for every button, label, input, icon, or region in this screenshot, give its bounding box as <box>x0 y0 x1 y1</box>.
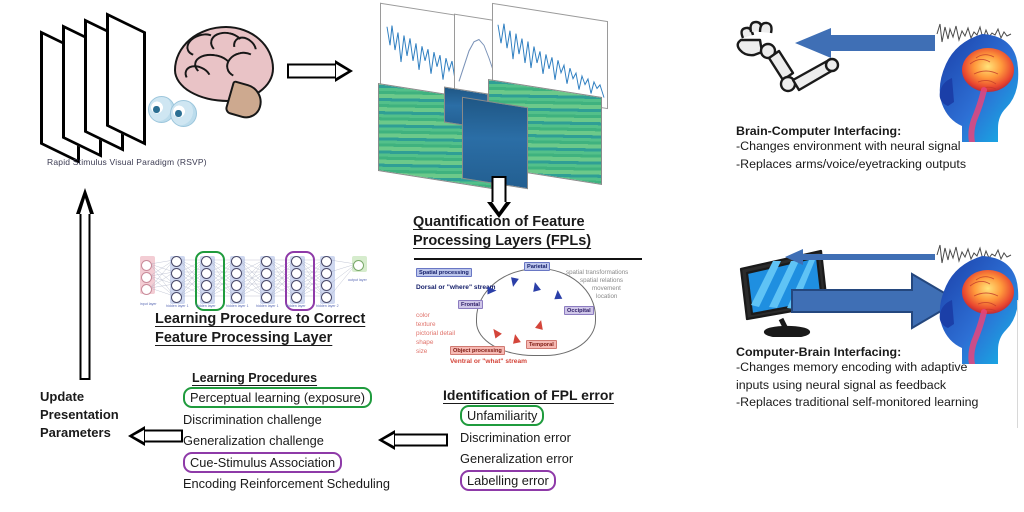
arrow-signals-to-quantification <box>486 176 512 218</box>
list-item[interactable]: Unfamiliarity <box>460 405 650 427</box>
arrow-feedback-to-rsvp <box>72 188 98 380</box>
quantification-heading-line: Quantification of Feature <box>413 213 633 232</box>
list-item-label: Labelling error <box>460 470 556 491</box>
bci-info-block: Brain-Computer Interfacing: -Changes env… <box>736 124 986 173</box>
cbi-title: Computer-Brain Interfacing: <box>736 345 986 359</box>
lobe-label-parietal: Parietal <box>524 262 550 271</box>
update-parameters-label: Update Presentation Parameters <box>40 388 135 442</box>
update-label-line: Update <box>40 388 135 406</box>
rsvp-plane <box>106 12 146 146</box>
nn-layer-label: hidden layer <box>196 304 216 308</box>
arrow-brain-to-signals <box>287 58 353 84</box>
lobe-label-occipital: Occipital <box>564 306 594 315</box>
list-item-label: Encoding Reinforcement Scheduling <box>183 476 390 491</box>
learning-procedures-subheading: Learning Procedures <box>192 370 317 387</box>
ventral-stream-label: Ventral or "what" stream <box>450 358 527 365</box>
dorsal-stream-label: Dorsal or "where" stream <box>416 284 496 291</box>
arrow-brain-to-device <box>787 28 935 58</box>
lobe-label-frontal: Frontal <box>458 300 483 309</box>
bci-bullet: -Changes environment with neural signal <box>736 138 986 156</box>
neural-network-diagram: input layer hidden layer 1 hidden layer … <box>140 252 376 310</box>
nn-layer-label: output layer <box>348 278 367 282</box>
list-item[interactable]: Generalization error <box>460 448 650 470</box>
ventral-function: pictorial detail <box>416 330 455 337</box>
nn-layer-label: hidden layer <box>286 304 306 308</box>
cbi-bullet: -Replaces traditional self-monitored lea… <box>736 394 986 412</box>
quantification-heading-line: Processing Layers (FPLs) <box>413 232 633 251</box>
lobe-label-temporal: Temporal <box>526 340 557 349</box>
ventral-function: texture <box>416 321 436 328</box>
list-item-label: Perceptual learning (exposure) <box>183 387 372 408</box>
dorsal-function: spatial relations <box>580 277 623 284</box>
arrow-brain-to-computer <box>783 248 935 266</box>
fpl-error-list: Unfamiliarity Discrimination error Gener… <box>460 405 650 491</box>
list-item[interactable]: Cue-Stimulus Association <box>183 452 413 474</box>
eeg-signal-plots <box>376 6 616 181</box>
bci-title: Brain-Computer Interfacing: <box>736 124 986 138</box>
list-item[interactable]: Discrimination error <box>460 427 650 449</box>
nn-layer-label: hidden layer 2 <box>316 304 339 308</box>
list-item-label: Cue-Stimulus Association <box>183 452 342 473</box>
list-item[interactable]: Encoding Reinforcement Scheduling <box>183 473 413 495</box>
update-label-line: Parameters <box>40 424 135 442</box>
list-item[interactable]: Discrimination challenge <box>183 409 413 431</box>
learning-procedure-heading: Learning Procedure to Correct Feature Pr… <box>155 310 385 348</box>
nn-layer-label: input layer <box>140 302 157 306</box>
highlight-box-green-hidden-layer <box>195 251 225 311</box>
quantification-heading: Quantification of Feature Processing Lay… <box>413 213 633 251</box>
ventral-function: shape <box>416 339 433 346</box>
learning-heading-line: Learning Procedure to Correct <box>155 310 385 329</box>
right-edge-divider <box>1017 300 1018 428</box>
list-item-label: Unfamiliarity <box>460 405 544 426</box>
spatial-processing-label: Spatial processing <box>416 268 472 277</box>
dorsal-function: movement <box>592 285 621 292</box>
ventral-function: color <box>416 312 430 319</box>
dorsal-function: spatial transformations <box>566 269 628 276</box>
list-item-label: Discrimination error <box>460 430 571 445</box>
update-label-line: Presentation <box>40 406 135 424</box>
dorsal-function: location <box>596 293 617 300</box>
list-item[interactable]: Labelling error <box>460 470 650 492</box>
highlight-box-purple-hidden-layer <box>285 251 315 311</box>
cbi-bullet: -Changes memory encoding with adaptive i… <box>736 359 986 394</box>
rsvp-caption: Rapid Stimulus Visual Paradigm (RSVP) <box>47 157 217 167</box>
arrow-learning-to-update <box>128 424 183 448</box>
nn-layer-label: hidden layer 1 <box>166 304 189 308</box>
list-item[interactable]: Perceptual learning (exposure) <box>183 387 413 409</box>
learning-heading-line: Feature Processing Layer <box>155 329 385 348</box>
fpl-error-heading: Identification of FPL error <box>443 387 614 404</box>
ventral-function: size <box>416 348 427 355</box>
list-item-label: Discrimination challenge <box>183 412 322 427</box>
list-item-label: Generalization error <box>460 451 573 466</box>
brain-illustration <box>170 22 280 117</box>
arrow-fpl-to-learning <box>378 428 448 452</box>
visual-stream-anatomy-figure: Spatial processing Dorsal or "where" str… <box>414 258 642 368</box>
list-item-label: Generalization challenge <box>183 433 324 448</box>
bci-bullet: -Replaces arms/voice/eyetracking outputs <box>736 156 986 174</box>
cbi-info-block: Computer-Brain Interfacing: -Changes mem… <box>736 345 986 412</box>
object-processing-label: Object processing <box>450 346 505 355</box>
nn-layer-label: hidden layer 1 <box>226 304 249 308</box>
nn-layer-label: hidden layer 1 <box>256 304 279 308</box>
